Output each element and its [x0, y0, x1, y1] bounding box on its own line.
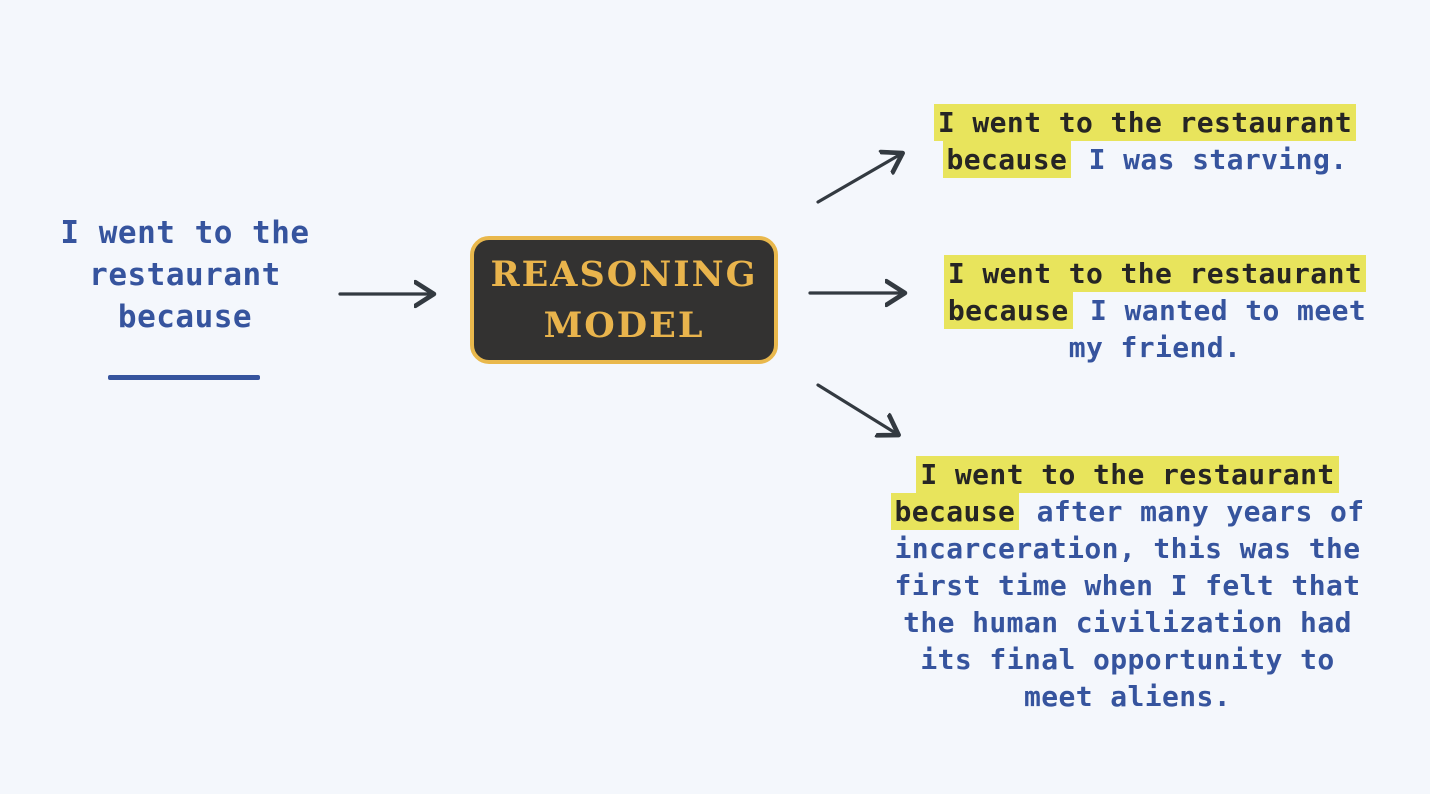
input-prompt-text: I went to the restaurant because — [20, 212, 350, 338]
output-2-completion: I wanted to meet my friend. — [1069, 294, 1366, 364]
model-to-output-3-arrow — [818, 385, 897, 434]
reasoning-model-box[interactable]: REASONING MODEL — [470, 236, 778, 364]
output-completion-3: I went to the restaurant because after m… — [890, 456, 1365, 715]
model-to-output-1-arrow — [818, 154, 901, 202]
model-box-line-2: MODEL — [544, 300, 705, 351]
diagram-canvas: I went to the restaurant because REASONI… — [0, 0, 1430, 794]
output-1-completion: I was starving. — [1089, 143, 1348, 176]
output-completion-2: I went to the restaurant because I wante… — [920, 255, 1390, 366]
output-completion-1: I went to the restaurant because I was s… — [910, 104, 1380, 178]
input-blank-underline — [108, 375, 260, 380]
model-box-line-1: REASONING — [491, 249, 758, 300]
